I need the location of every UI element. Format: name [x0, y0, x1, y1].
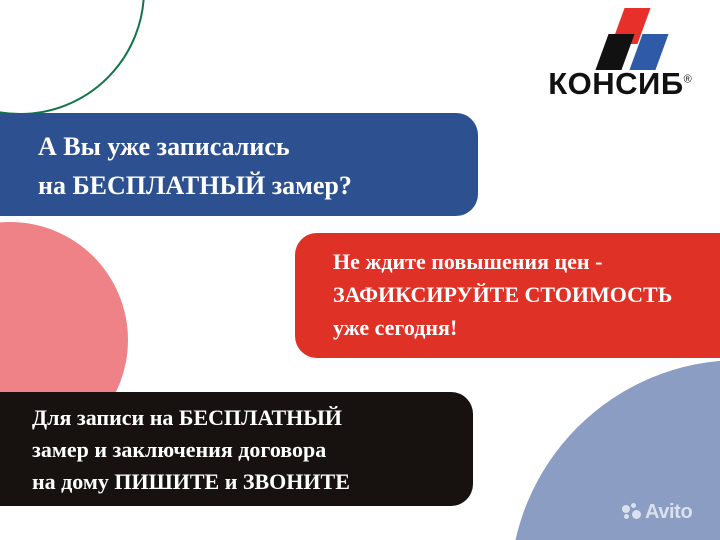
banner-black-line-2: замер и заключения договора: [32, 434, 473, 466]
logo-mark-icon: [592, 8, 670, 70]
avito-watermark: Avito: [622, 500, 692, 524]
green-outline-circle-decoration: [0, 0, 145, 115]
headline-banner-black: Для записи на БЕСПЛАТНЫЙ замер и заключе…: [0, 392, 473, 506]
banner-black-line-3: на дому ПИШИТЕ и ЗВОНИТЕ: [32, 466, 473, 498]
banner-black-line-1: Для записи на БЕСПЛАТНЫЙ: [32, 402, 473, 434]
avito-dots-icon: [622, 503, 642, 521]
logo-parallelogram-black-icon: [595, 34, 634, 70]
banner-red-line-3: уже сегодня!: [333, 311, 720, 344]
banner-red-line-2: ЗАФИКСИРУЙТЕ СТОИМОСТЬ: [333, 278, 720, 311]
logo-wordmark: КОНСИБ®: [530, 68, 710, 99]
brand-logo: КОНСИБ®: [530, 8, 710, 106]
advertisement-canvas: КОНСИБ® А Вы уже записались на БЕСПЛАТНЫ…: [0, 0, 720, 540]
registered-trademark-symbol: ®: [684, 74, 692, 86]
banner-blue-line-1: А Вы уже записались: [38, 127, 478, 166]
headline-banner-red: Не ждите повышения цен - ЗАФИКСИРУЙТЕ СТ…: [295, 233, 720, 358]
avito-watermark-label: Avito: [645, 502, 692, 522]
logo-wordmark-text: КОНСИБ: [548, 66, 683, 101]
headline-banner-blue: А Вы уже записались на БЕСПЛАТНЫЙ замер?: [0, 113, 478, 216]
banner-blue-line-2: на БЕСПЛАТНЫЙ замер?: [38, 166, 478, 205]
banner-red-line-1: Не ждите повышения цен -: [333, 245, 720, 278]
